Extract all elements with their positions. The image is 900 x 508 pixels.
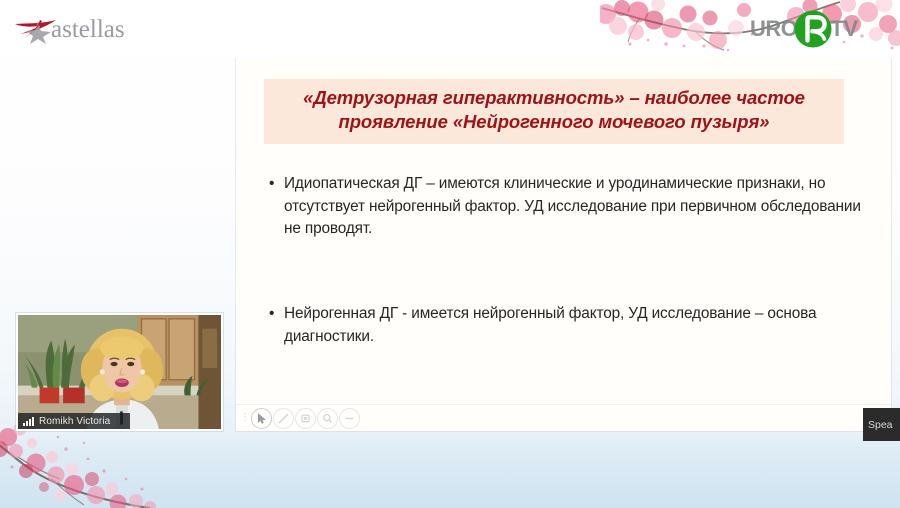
astellas-logo: astellas bbox=[14, 16, 244, 50]
urotv-prefix: URO bbox=[750, 16, 797, 42]
pen-slash-icon bbox=[277, 412, 290, 425]
urotv-suffix: TV bbox=[830, 16, 857, 42]
slide-title: «Детрузорная гиперактивность» – наиболее… bbox=[274, 86, 834, 134]
bullet-text: Идиопатическая ДГ – имеются клинические … bbox=[284, 175, 861, 237]
signal-bars-icon bbox=[23, 417, 34, 426]
top-brand-bar: astellas bbox=[0, 0, 900, 58]
urotv-logo: URO TV bbox=[750, 7, 878, 51]
cursor-arrow-icon bbox=[255, 412, 268, 425]
bullet-text: Нейрогенная ДГ - имеется нейрогенный фак… bbox=[284, 305, 816, 345]
list-item: • Нейрогенная ДГ - имеется нейрогенный ф… bbox=[268, 303, 864, 348]
bullet-marker: • bbox=[269, 173, 274, 196]
participant-name-badge: Romikh Victoria bbox=[18, 413, 130, 429]
toolbar-drag-handle[interactable]: ⋮ bbox=[240, 409, 250, 427]
astellas-wordmark: astellas bbox=[51, 16, 125, 44]
list-item: • Идиопатическая ДГ – имеются клинически… bbox=[268, 173, 864, 241]
slide-annotation-toolbar[interactable]: ⋮ bbox=[236, 404, 891, 431]
webinar-screen: «Детрузорная гиперактивность» – наиболее… bbox=[0, 0, 900, 508]
more-tool-button[interactable] bbox=[339, 408, 360, 429]
slide-title-banner: «Детрузорная гиперактивность» – наиболее… bbox=[264, 79, 844, 144]
slide-bullet-list: • Идиопатическая ДГ – имеются клинически… bbox=[268, 173, 864, 348]
bullet-marker: • bbox=[269, 303, 274, 326]
speaker-view-button[interactable]: Spea bbox=[863, 408, 900, 441]
green-p-circle-icon bbox=[793, 9, 833, 49]
stamp-square-icon bbox=[299, 412, 312, 425]
presentation-slide[interactable]: «Детрузорная гиперактивность» – наиболее… bbox=[236, 49, 891, 431]
participant-video-thumbnail[interactable]: Romikh Victoria bbox=[16, 313, 223, 431]
magnifier-icon bbox=[321, 412, 334, 425]
page-bottom-gradient bbox=[0, 430, 900, 508]
pointer-tool-button[interactable] bbox=[251, 408, 272, 429]
minus-circle-icon bbox=[343, 412, 356, 425]
zoom-tool-button[interactable] bbox=[317, 408, 338, 429]
stamp-tool-button[interactable] bbox=[295, 408, 316, 429]
participant-name: Romikh Victoria bbox=[39, 416, 110, 427]
pen-tool-button[interactable] bbox=[273, 408, 294, 429]
